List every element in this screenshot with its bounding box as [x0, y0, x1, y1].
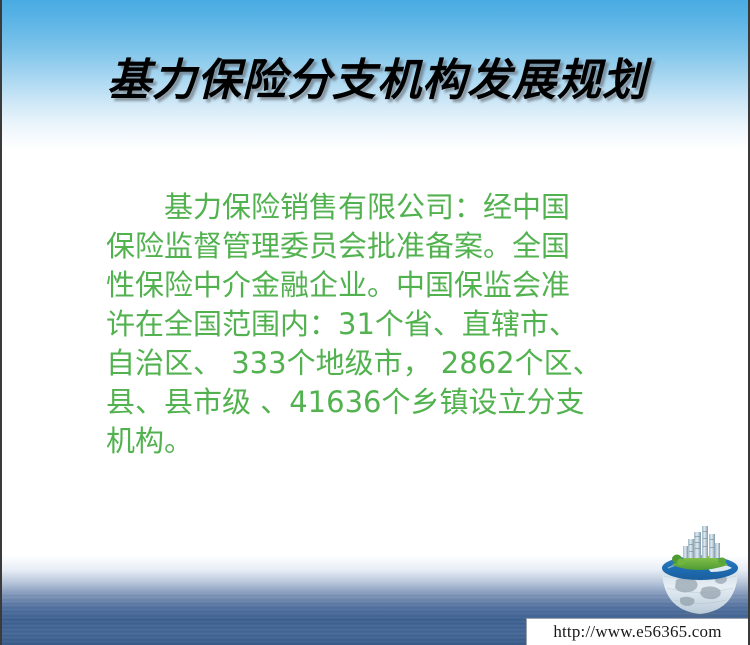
body-line-1: 基力保险销售有限公司：经中国: [106, 188, 666, 227]
body-line-5: 自治区、 333个地级市， 2862个区、: [106, 344, 666, 383]
watermark-url-text: http://www.e56365.com: [553, 622, 721, 642]
body-line-2: 保险监督管理委员会批准备案。全国: [106, 227, 666, 266]
body-line-6: 县、县市级 、41636个乡镇设立分支: [106, 383, 666, 422]
slide-title: 基力保险分支机构发展规划: [2, 57, 750, 105]
body-line-3: 性保险中介金融企业。中国保监会准: [106, 266, 666, 305]
watermark-url-box: http://www.e56365.com: [526, 618, 748, 645]
slide-body-text: 基力保险销售有限公司：经中国 保险监督管理委员会批准备案。全国 性保险中介金融企…: [106, 188, 666, 461]
body-line-7: 机构。: [106, 422, 666, 461]
body-line-1-text: 基力保险销售有限公司：经中国: [164, 190, 570, 224]
earth-city-globe-icon: [650, 518, 750, 622]
body-line-4: 许在全国范围内：31个省、直辖市、: [106, 305, 666, 344]
presentation-slide: 基力保险分支机构发展规划 基力保险销售有限公司：经中国 保险监督管理委员会批准备…: [0, 0, 750, 645]
